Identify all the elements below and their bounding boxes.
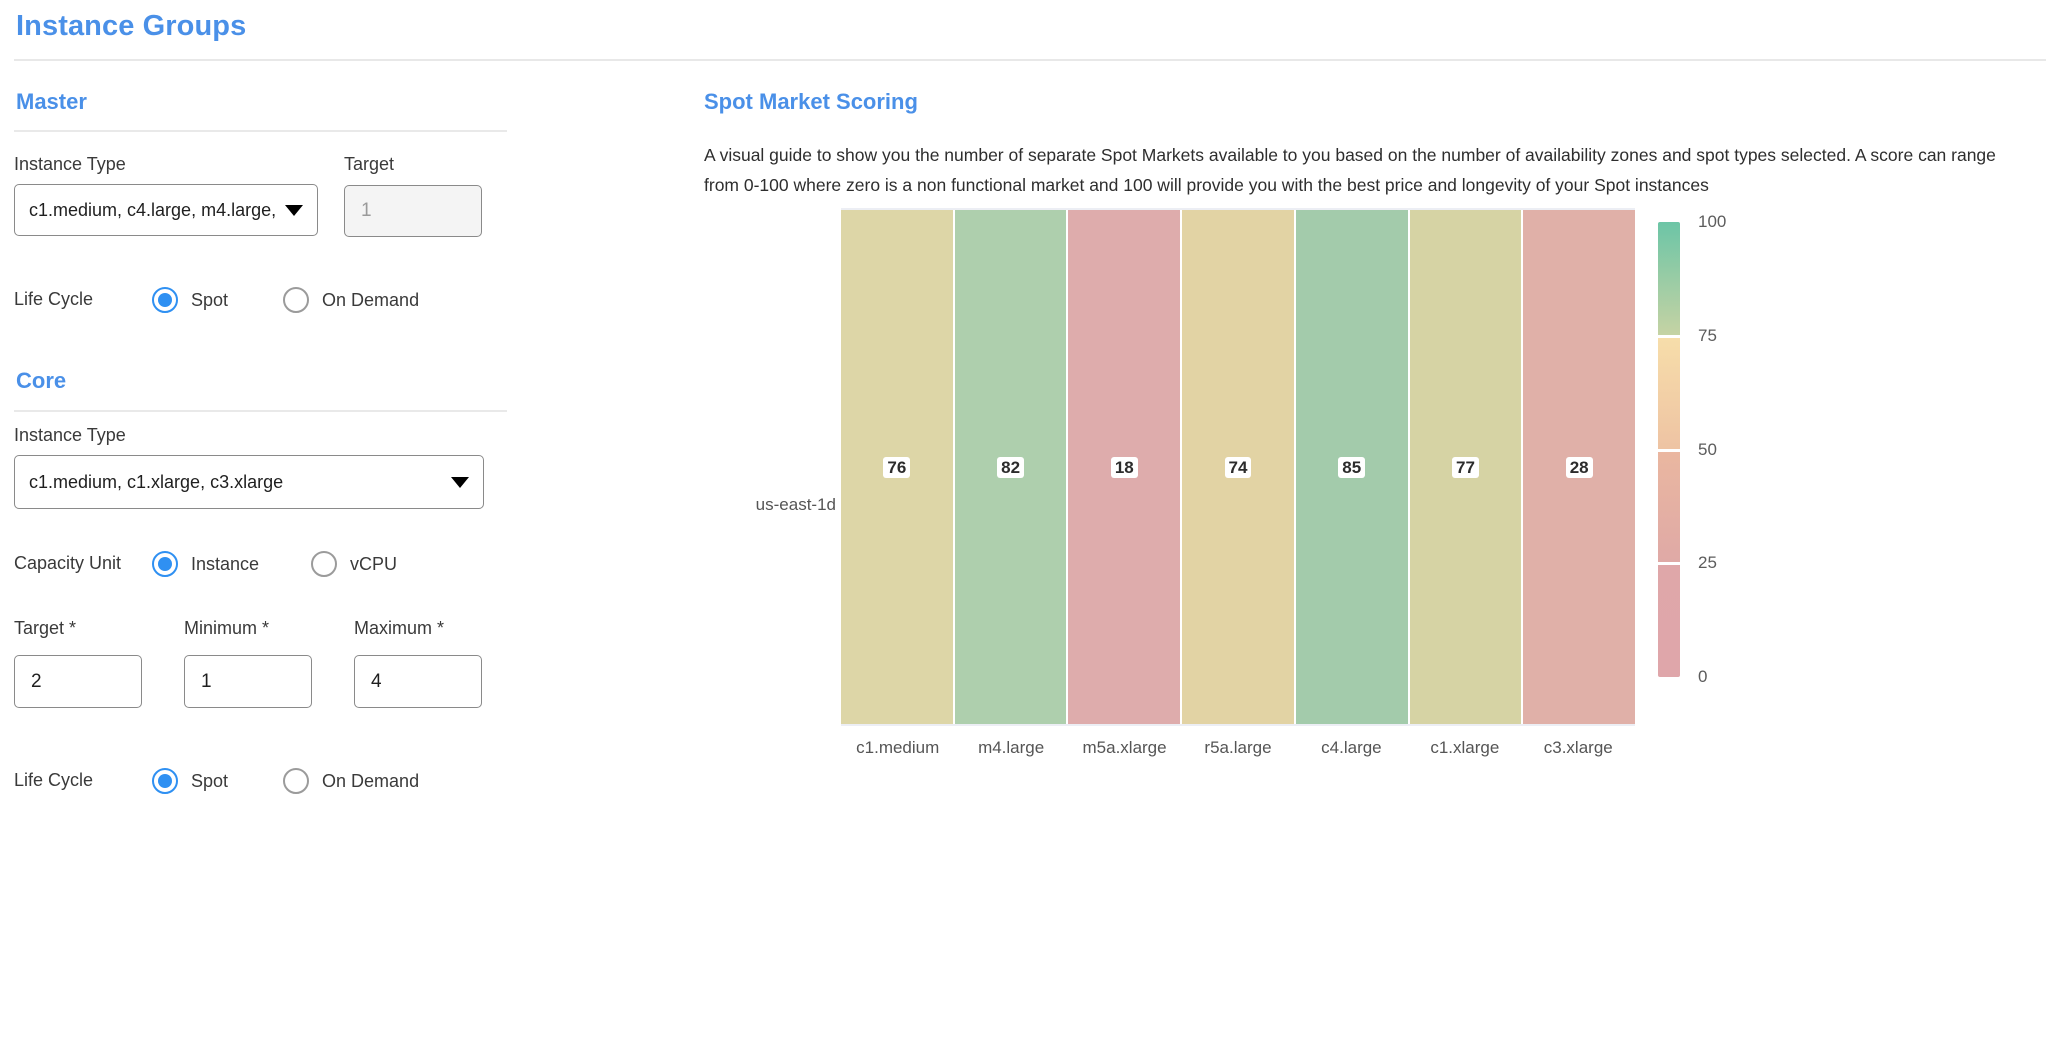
heatmap-cell-value: 82 [997, 457, 1024, 478]
heatmap-x-label: m5a.xlarge [1068, 738, 1181, 758]
radio-unselected-icon [283, 768, 309, 794]
heatmap-cell[interactable]: 82 [955, 210, 1069, 724]
core-capacity-unit-option-instance[interactable]: Instance [152, 551, 259, 577]
heatmap-x-label: c4.large [1295, 738, 1408, 758]
core-capacity-unit-label: Capacity Unit [14, 553, 121, 574]
heatmap-cell[interactable]: 85 [1296, 210, 1410, 724]
master-instance-type-select[interactable]: c1.medium, c4.large, m4.large, … [14, 184, 318, 236]
master-target-label: Target [344, 154, 394, 175]
master-life-cycle-option-spot[interactable]: Spot [152, 287, 228, 313]
colorbar-band [1658, 563, 1680, 677]
heatmap-cell-value: 76 [883, 457, 910, 478]
heatmap-x-axis-labels: c1.mediumm4.largem5a.xlarger5a.largec4.l… [841, 738, 1635, 758]
heatmap-x-label: m4.large [954, 738, 1067, 758]
master-section-heading: Master [16, 89, 87, 115]
heatmap-row-label: us-east-1d [700, 495, 836, 515]
colorbar-band [1658, 222, 1680, 336]
core-instance-type-label: Instance Type [14, 425, 126, 446]
master-instance-type-label: Instance Type [14, 154, 126, 175]
core-target-label: Target * [14, 618, 76, 639]
colorbar-tick-label: 25 [1698, 553, 1717, 573]
chevron-down-icon [285, 205, 303, 216]
colorbar-tick-label: 0 [1698, 667, 1707, 687]
core-maximum-label: Maximum * [354, 618, 444, 639]
spot-market-heading: Spot Market Scoring [704, 89, 918, 115]
core-capacity-unit-option-vcpu-label: vCPU [350, 554, 397, 575]
radio-unselected-icon [283, 287, 309, 313]
core-life-cycle-radio-group: Spot On Demand [152, 768, 419, 794]
heatmap-cell[interactable]: 18 [1068, 210, 1182, 724]
radio-unselected-icon [311, 551, 337, 577]
core-section-rule [14, 410, 507, 412]
master-instance-type-value: c1.medium, c4.large, m4.large, … [29, 200, 275, 221]
colorbar-band [1658, 336, 1680, 450]
core-minimum-input[interactable]: 1 [184, 655, 312, 708]
core-instance-type-select[interactable]: c1.medium, c1.xlarge, c3.xlarge [14, 455, 484, 509]
colorbar-separator [1658, 449, 1680, 452]
colorbar-tick-label: 50 [1698, 440, 1717, 460]
heatmap-cell[interactable]: 74 [1182, 210, 1296, 724]
radio-selected-icon [152, 551, 178, 577]
heatmap-x-label: c1.xlarge [1408, 738, 1521, 758]
radio-selected-icon [152, 768, 178, 794]
core-life-cycle-option-on-demand[interactable]: On Demand [283, 768, 419, 794]
master-target-input[interactable]: 1 [344, 185, 482, 237]
core-capacity-unit-radio-group: Instance vCPU [152, 551, 397, 577]
master-section-rule [14, 130, 507, 132]
heatmap-cell-value: 28 [1566, 457, 1593, 478]
master-life-cycle-option-on-demand-label: On Demand [322, 290, 419, 311]
colorbar-separator [1658, 562, 1680, 565]
core-minimum-label: Minimum * [184, 618, 269, 639]
heatmap-cell[interactable]: 76 [841, 210, 955, 724]
spot-market-description: A visual guide to show you the number of… [704, 140, 2024, 200]
colorbar-gradient [1658, 222, 1680, 677]
spot-market-scoring-panel: Spot Market Scoring A visual guide to sh… [700, 80, 2058, 1058]
core-capacity-unit-option-vcpu[interactable]: vCPU [311, 551, 397, 577]
heatmap-cell[interactable]: 77 [1410, 210, 1524, 724]
heatmap-colorbar: 1007550250 [1658, 200, 1818, 760]
heatmap-cell[interactable]: 28 [1523, 210, 1635, 724]
heatmap-x-label: c1.medium [841, 738, 954, 758]
core-instance-type-value: c1.medium, c1.xlarge, c3.xlarge [29, 472, 441, 493]
heatmap-x-label: r5a.large [1181, 738, 1294, 758]
colorbar-band [1658, 450, 1680, 564]
heatmap-cell-value: 18 [1111, 457, 1138, 478]
colorbar-tick-label: 75 [1698, 326, 1717, 346]
core-capacity-unit-option-instance-label: Instance [191, 554, 259, 575]
core-life-cycle-option-spot-label: Spot [191, 771, 228, 792]
instance-groups-form: Master Instance Type c1.medium, c4.large… [0, 80, 700, 1058]
spot-market-heatmap: us-east-1d 76821874857728 c1.mediumm4.la… [700, 200, 2058, 760]
master-life-cycle-radio-group: Spot On Demand [152, 287, 419, 313]
heatmap-cell-value: 85 [1338, 457, 1365, 478]
core-maximum-input[interactable]: 4 [354, 655, 482, 708]
colorbar-tick-label: 100 [1698, 212, 1726, 232]
master-life-cycle-option-on-demand[interactable]: On Demand [283, 287, 419, 313]
core-section-heading: Core [16, 368, 66, 394]
radio-selected-icon [152, 287, 178, 313]
title-divider [14, 59, 2046, 61]
page-title: Instance Groups [16, 10, 246, 43]
core-life-cycle-option-spot[interactable]: Spot [152, 768, 228, 794]
core-target-input[interactable]: 2 [14, 655, 142, 708]
chevron-down-icon [451, 477, 469, 488]
master-life-cycle-option-spot-label: Spot [191, 290, 228, 311]
heatmap-cell-value: 74 [1225, 457, 1252, 478]
core-life-cycle-label: Life Cycle [14, 770, 93, 791]
heatmap-cells: 76821874857728 [841, 208, 1635, 726]
colorbar-separator [1658, 335, 1680, 338]
heatmap-cell-value: 77 [1452, 457, 1479, 478]
heatmap-x-label: c3.xlarge [1522, 738, 1635, 758]
master-life-cycle-label: Life Cycle [14, 289, 93, 310]
core-life-cycle-option-on-demand-label: On Demand [322, 771, 419, 792]
